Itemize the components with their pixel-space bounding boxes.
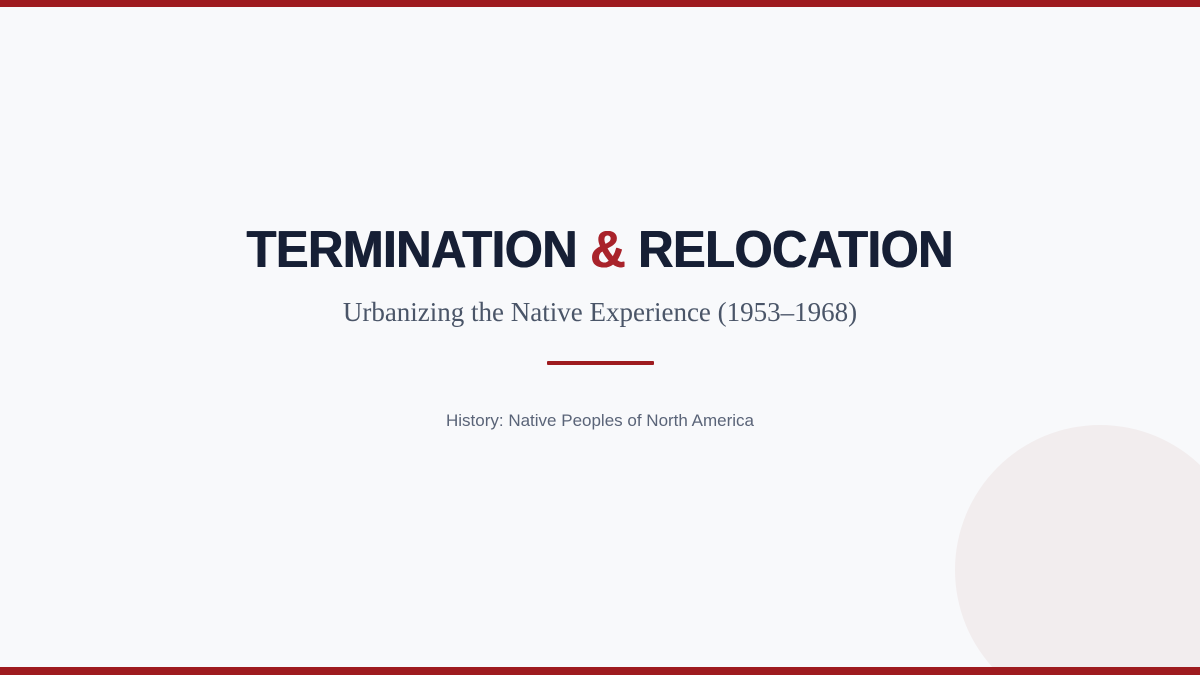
title-slide: TERMINATION & RELOCATION Urbanizing the … — [0, 0, 1200, 675]
course-kicker: History: Native Peoples of North America — [446, 410, 754, 432]
top-accent-bar — [0, 0, 1200, 7]
title-ampersand: & — [590, 221, 625, 279]
title-part-relocation: RELOCATION — [638, 221, 953, 279]
title-part-termination: TERMINATION — [247, 221, 578, 279]
bottom-accent-bar — [0, 667, 1200, 675]
slide-content: TERMINATION & RELOCATION Urbanizing the … — [0, 0, 1200, 675]
title-divider-rule — [547, 361, 654, 365]
slide-title: TERMINATION & RELOCATION — [247, 222, 954, 278]
slide-subtitle: Urbanizing the Native Experience (1953–1… — [343, 296, 857, 328]
